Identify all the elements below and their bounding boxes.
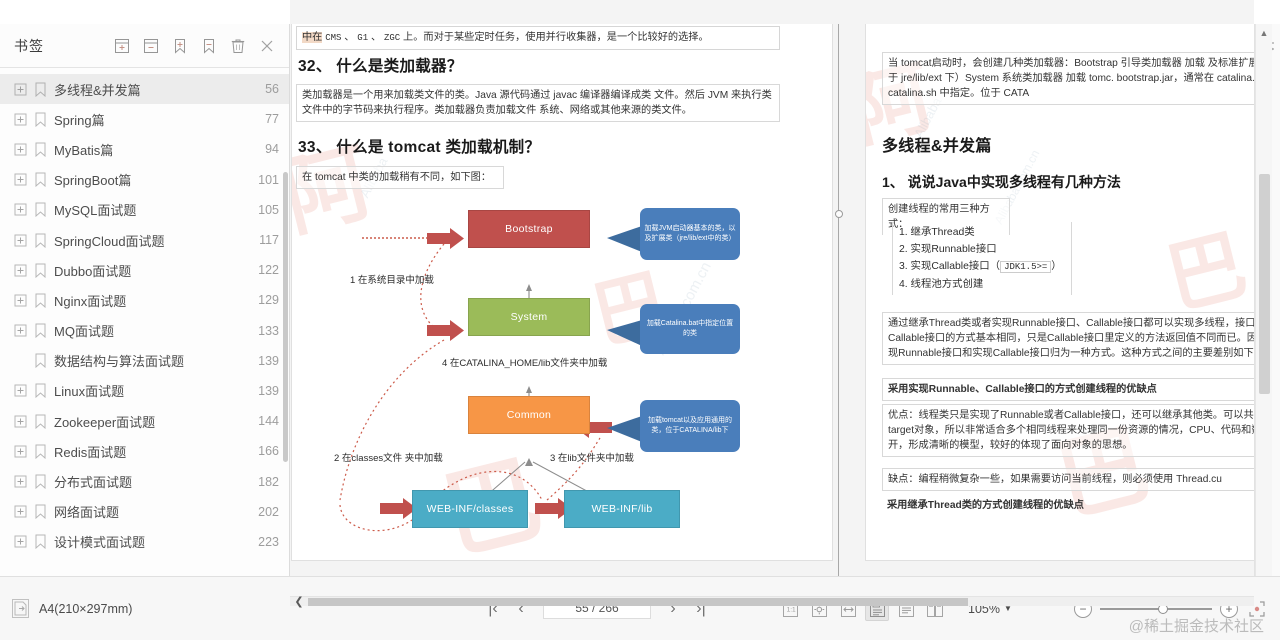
expand-all-icon[interactable] [112,36,132,56]
expand-toggle-icon[interactable] [14,384,27,397]
expand-toggle-icon[interactable] [14,505,27,518]
code-g1: G1 [357,33,368,43]
step-2-label: 2 在classes文件 夹中加载 [334,450,443,464]
expand-toggle-icon[interactable] [14,535,27,548]
paragraph-tomcat: 当 tomcat启动时，会创建几种类加载器：Bootstrap 引导类加载器 加… [882,52,1254,105]
bookmark-item-page: 133 [258,324,279,338]
sep-2: 、 [371,32,381,43]
system-box: System [468,298,590,336]
bookmark-panel-toolbar [112,36,277,56]
bookmark-item-label: MQ面试题 [54,321,250,340]
bookmark-icon [34,534,47,549]
bookmark-item-page: 166 [258,444,279,458]
bookmark-item[interactable]: Linux面试题139 [0,376,289,406]
bookmark-item-page: 117 [259,233,279,247]
bookmark-item-page: 129 [258,293,279,307]
bookmark-item[interactable]: 数据结构与算法面试题139 [0,346,289,376]
bookmark-item[interactable]: MySQL面试题105 [0,195,289,225]
bookmark-item-label: 分布式面试题 [54,472,250,491]
bookmark-item[interactable]: 网络面试题202 [0,497,289,527]
bookmark-icon [34,474,47,489]
bookmark-item-label: 数据结构与算法面试题 [54,351,250,370]
document-vertical-scrollbar[interactable]: ▲ [1255,24,1272,576]
heading-pros-runnable: 采用实现Runnable、Callable接口的方式创建线程的优缺点 [882,378,1254,401]
common-box: Common [468,396,590,434]
page-size-icon[interactable] [12,599,29,618]
webinf-lib-box: WEB-INF/lib [564,490,680,528]
thread-creation-list: 1. 继承Thread类 2. 实现Runnable接口 3. 实现Callab… [892,222,1072,295]
bookmark-icon [34,353,47,368]
step-4-label: 4 在CATALINA_HOME/lib文件夹中加载 [442,355,607,369]
bookmark-item[interactable]: 分布式面试题182 [0,466,289,496]
pdf-reader-window: 书签 [0,0,1280,640]
list-item-3-text: 3. 实现Callable接口（ [899,261,1000,272]
expand-toggle-icon[interactable] [14,83,27,96]
system-callout: 加载Catalina.bat中指定位置的类 [640,304,740,354]
page-splitter[interactable] [838,24,839,576]
bookmark-item-page: 139 [258,354,279,368]
bookmark-item-label: Redis面试题 [54,442,250,461]
expand-toggle-icon[interactable] [14,234,27,247]
bookmark-item[interactable]: Dubbo面试题122 [0,255,289,285]
common-callout: 加载tomcat以及应用通用的类，位于CATALINA/lib下 [640,400,740,452]
bookmark-icon [34,414,47,429]
expand-toggle-icon[interactable] [14,143,27,156]
bookmark-icon [34,293,47,308]
paragraph-top-prefix: 中在 [302,32,322,43]
heading-multithread-section: 多线程&并发篇 [882,132,992,156]
expand-toggle-icon[interactable] [14,445,27,458]
scroll-up-chevron-icon[interactable]: ▲ [1256,24,1272,41]
document-vertical-scrollbar-thumb[interactable] [1259,174,1270,394]
remove-bookmark-icon[interactable] [199,36,219,56]
bookmark-item-label: Zookeeper面试题 [54,412,250,431]
expand-toggle-icon[interactable] [14,264,27,277]
trash-icon[interactable] [228,36,248,56]
bookmark-icon [34,112,47,127]
bookmark-item-page: 182 [258,475,279,489]
list-item-4: 4. 线程池方式创建 [899,276,1065,293]
bookmark-item-label: Dubbo面试题 [54,261,250,280]
svg-text:1:1: 1:1 [786,607,795,614]
bookmark-icon [34,202,47,217]
bookmark-item-label: Linux面试题 [54,381,250,400]
document-page-right: 阿 巴 巴 Alibaba Alibaba.com.cn 当 tomcat启动时… [866,24,1254,560]
bookmark-item-page: 223 [258,535,279,549]
status-bar: A4(210×297mm) |‹ ‹ 55 / 266 › ›| 1:1 [0,576,1280,640]
bookmark-item-label: MySQL面试题 [54,200,250,219]
list-item-3-code: JDK1.5>= [1000,261,1051,273]
collapse-panel-chevron-icon[interactable]: ❮ [291,593,307,609]
list-item-3-suffix: ） [1051,261,1061,272]
bootstrap-callout: 加载JVM启动器基本的类，以及扩展类（jre/lib/ext中的类） [640,208,740,260]
bootstrap-box: Bootstrap [468,210,590,248]
paragraph-top: 中在 CMS 、 G1 、 ZGC 上。而对于某些定时任务，使用并行收集器，是一… [296,26,780,50]
expand-toggle-icon[interactable] [14,415,27,428]
bookmark-item-page: 202 [258,505,279,519]
list-item-3: 3. 实现Callable接口（JDK1.5>=） [899,258,1065,276]
expand-toggle-icon[interactable] [14,324,27,337]
paragraph-top-rest: 上。而对于某些定时任务，使用并行收集器，是一个比较好的选择。 [403,32,709,43]
bookmark-icon [34,233,47,248]
zoom-slider-track [1100,608,1212,610]
paragraph-compare: 通过继承Thread类或者实现Runnable接口、Callable接口都可以实… [882,312,1254,365]
bookmark-item-page: 139 [258,384,279,398]
expand-toggle-icon[interactable] [14,475,27,488]
close-icon[interactable] [257,36,277,56]
bookmark-item-page: 94 [265,142,279,156]
bookmark-item[interactable]: Redis面试题166 [0,436,289,466]
bookmark-icon [34,444,47,459]
page-size-label: A4(210×297mm) [39,602,132,616]
page-splitter-handle[interactable] [835,210,843,218]
bookmark-item[interactable]: 设计模式面试题223 [0,527,289,557]
add-bookmark-icon[interactable] [170,36,190,56]
bookmark-panel-header: 书签 [0,24,289,68]
sep-1: 、 [344,32,354,43]
bookmark-item-label: SpringCloud面试题 [54,231,251,250]
bookmark-item-label: MyBatis篇 [54,140,257,159]
bookmark-icon [34,263,47,278]
bookmark-icon [34,504,47,519]
bookmark-panel: 书签 [0,24,290,576]
tomcat-classloader-diagram: Bootstrap System Common WEB-INF/classes … [292,200,832,545]
bookmark-icon [34,323,47,338]
webinf-classes-box: WEB-INF/classes [412,490,528,528]
bookmark-panel-title: 书签 [14,36,44,56]
bookmark-item-page: 122 [258,263,279,277]
document-horizontal-scrollbar[interactable] [290,596,1254,606]
bookmark-list[interactable]: 多线程&并发篇56Spring篇77MyBatis篇94SpringBoot篇1… [0,68,289,576]
bookmark-list-scrollbar[interactable] [283,172,288,462]
bookmark-item-label: Nginx面试题 [54,291,250,310]
heading-33: 33、 什么是 tomcat 类加载机制？ [298,135,540,157]
document-horizontal-scrollbar-thumb[interactable] [308,598,968,606]
bookmark-item-label: 网络面试题 [54,502,250,521]
bookmark-icon [34,383,47,398]
paragraph-33: 在 tomcat 中类的加载稍有不同，如下图： [296,166,504,189]
bookmark-item[interactable]: MQ面试题133 [0,316,289,346]
step-1-label: 1 在系统目录中加载 [350,272,434,286]
bookmark-item-label: 多线程&并发篇 [54,80,257,99]
bookmark-item[interactable]: SpringCloud面试题117 [0,225,289,255]
bookmark-item[interactable]: 多线程&并发篇56 [0,74,289,104]
paragraph-cons: 缺点：编程稍微复杂一些，如果需要访问当前线程，则必须使用 Thread.cu [882,468,1254,491]
bookmark-icon [34,82,47,97]
list-item-1: 1. 继承Thread类 [899,224,1065,241]
bookmark-item-label: 设计模式面试题 [54,532,250,551]
heading-pros-thread: 采用继承Thread类的方式创建线程的优缺点 [882,495,1254,516]
code-cms: CMS [325,33,341,43]
bookmark-item[interactable]: Nginx面试题129 [0,285,289,315]
heading-question-1: 1、 说说Java中实现多线程有几种方法 [882,172,1121,192]
paragraph-pros: 优点：线程类只是实现了Runnable或者Callable接口，还可以继承其他类… [882,404,1254,457]
expand-toggle-icon[interactable] [14,173,27,186]
bookmark-item-page: 105 [258,203,279,217]
document-page-left: 阿 巴 巴 Alibaba.com.cn Alibaba 中在 CMS 、 G1… [292,24,832,560]
list-item-2: 2. 实现Runnable接口 [899,241,1065,258]
bookmark-item-page: 144 [258,414,279,428]
expand-toggle-icon[interactable] [14,113,27,126]
collapse-all-icon[interactable] [141,36,161,56]
step-3-label: 3 在lib文件夹中加载 [550,450,634,464]
paragraph-32: 类加载器是一个用来加载类文件的类。Java 源代码通过 javac 编译器编译成… [296,84,780,122]
code-zgc: ZGC [384,33,400,43]
heading-32: 32、 什么是类加载器？ [298,54,463,76]
bookmark-item[interactable]: Spring篇77 [0,104,289,134]
bookmark-item[interactable]: SpringBoot篇101 [0,165,289,195]
bookmark-icon [34,142,47,157]
bookmark-item-page: 56 [265,82,279,96]
bookmark-item[interactable]: Zookeeper面试题144 [0,406,289,436]
bookmark-item-label: SpringBoot篇 [54,170,250,189]
bookmark-item-page: 77 [265,112,279,126]
top-strip-document [290,0,1254,24]
bookmark-item-page: 101 [258,173,279,187]
expand-toggle-icon[interactable] [14,294,27,307]
expand-toggle-icon[interactable] [14,203,27,216]
page-watermark: 巴 [1154,202,1254,330]
bookmark-item-label: Spring篇 [54,110,257,129]
bookmark-item[interactable]: MyBatis篇94 [0,134,289,164]
document-viewport[interactable]: 阿 巴 巴 Alibaba.com.cn Alibaba 中在 CMS 、 G1… [290,24,1254,576]
bookmark-icon [34,172,47,187]
